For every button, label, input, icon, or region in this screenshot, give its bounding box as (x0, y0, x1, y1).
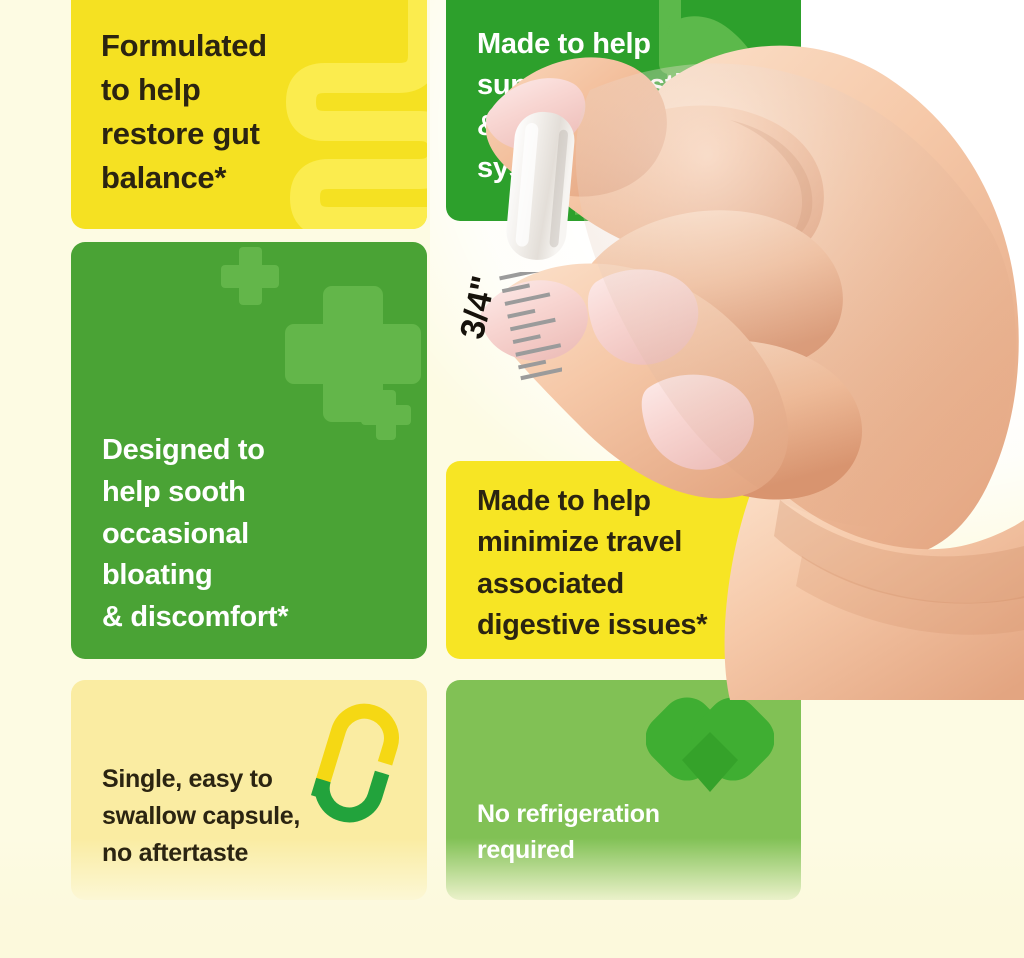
infographic-stage: Formulated to help restore gut balance* … (0, 0, 1024, 958)
palm-crease (774, 500, 1024, 604)
benefit-text: Made to help support digestion & immune … (446, 0, 801, 189)
benefit-card-digestion-immune: Made to help support digestion & immune … (446, 0, 801, 221)
palm-crease-2 (796, 556, 1024, 635)
benefit-card-travel-digestion: Made to help minimize travel associated … (446, 461, 801, 659)
benefit-card-gut-balance: Formulated to help restore gut balance* (71, 0, 427, 229)
benefit-text: Designed to help sooth occasional bloati… (71, 242, 427, 639)
benefit-text: Formulated to help restore gut balance* (71, 0, 427, 200)
benefit-text: Made to help minimize travel associated … (446, 461, 801, 647)
benefit-text: No refrigeration required (446, 680, 801, 869)
benefit-card-no-refrigeration: No refrigeration required (446, 680, 801, 900)
benefit-card-bloating-discomfort: Designed to help sooth occasional bloati… (71, 242, 427, 659)
hand-ring-finger (582, 210, 843, 371)
benefit-text: Single, easy to swallow capsule, no afte… (71, 680, 427, 872)
ring-nail (588, 269, 698, 364)
benefit-card-single-capsule: Single, easy to swallow capsule, no afte… (71, 680, 427, 900)
pinky-nail (642, 375, 754, 470)
